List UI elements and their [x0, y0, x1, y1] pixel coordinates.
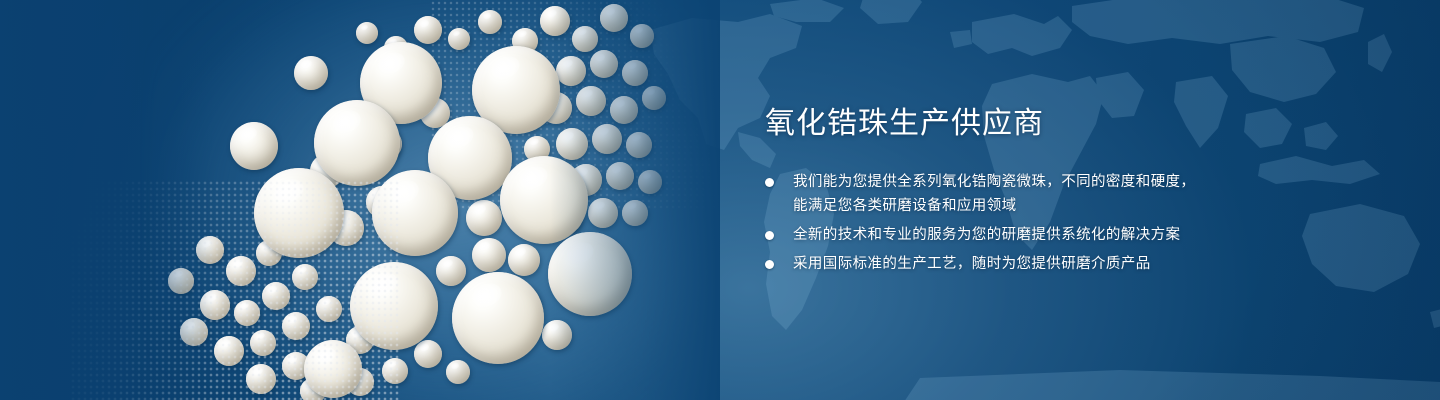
banner-content: 氧化锆珠生产供应商 我们能为您提供全系列氧化锆陶瓷微珠，不同的密度和硬度， 能满…: [765, 104, 1385, 281]
list-item: 全新的技术和专业的服务为您的研磨提供系统化的解决方案: [765, 223, 1385, 247]
bullet-dot-icon: [765, 231, 774, 240]
zirconia-beads-photo: [0, 0, 720, 400]
list-item: 我们能为您提供全系列氧化锆陶瓷微珠，不同的密度和硬度， 能满足您各类研磨设备和应…: [765, 170, 1385, 218]
hero-banner: 氧化锆珠生产供应商 我们能为您提供全系列氧化锆陶瓷微珠，不同的密度和硬度， 能满…: [0, 0, 1440, 400]
bullet-dot-icon: [765, 260, 774, 269]
bullet-text-line: 采用国际标准的生产工艺，随时为您提供研磨介质产品: [793, 252, 1385, 276]
bullet-dot-icon: [765, 178, 774, 187]
bead-cluster: [0, 0, 720, 400]
bullet-text-line: 全新的技术和专业的服务为您的研磨提供系统化的解决方案: [793, 223, 1385, 247]
bullet-text-line: 我们能为您提供全系列氧化锆陶瓷微珠，不同的密度和硬度，: [793, 170, 1385, 194]
bullet-text-line: 能满足您各类研磨设备和应用领域: [793, 194, 1385, 218]
list-item: 采用国际标准的生产工艺，随时为您提供研磨介质产品: [765, 252, 1385, 276]
page-title: 氧化锆珠生产供应商: [765, 104, 1385, 144]
feature-list: 我们能为您提供全系列氧化锆陶瓷微珠，不同的密度和硬度， 能满足您各类研磨设备和应…: [765, 170, 1385, 276]
